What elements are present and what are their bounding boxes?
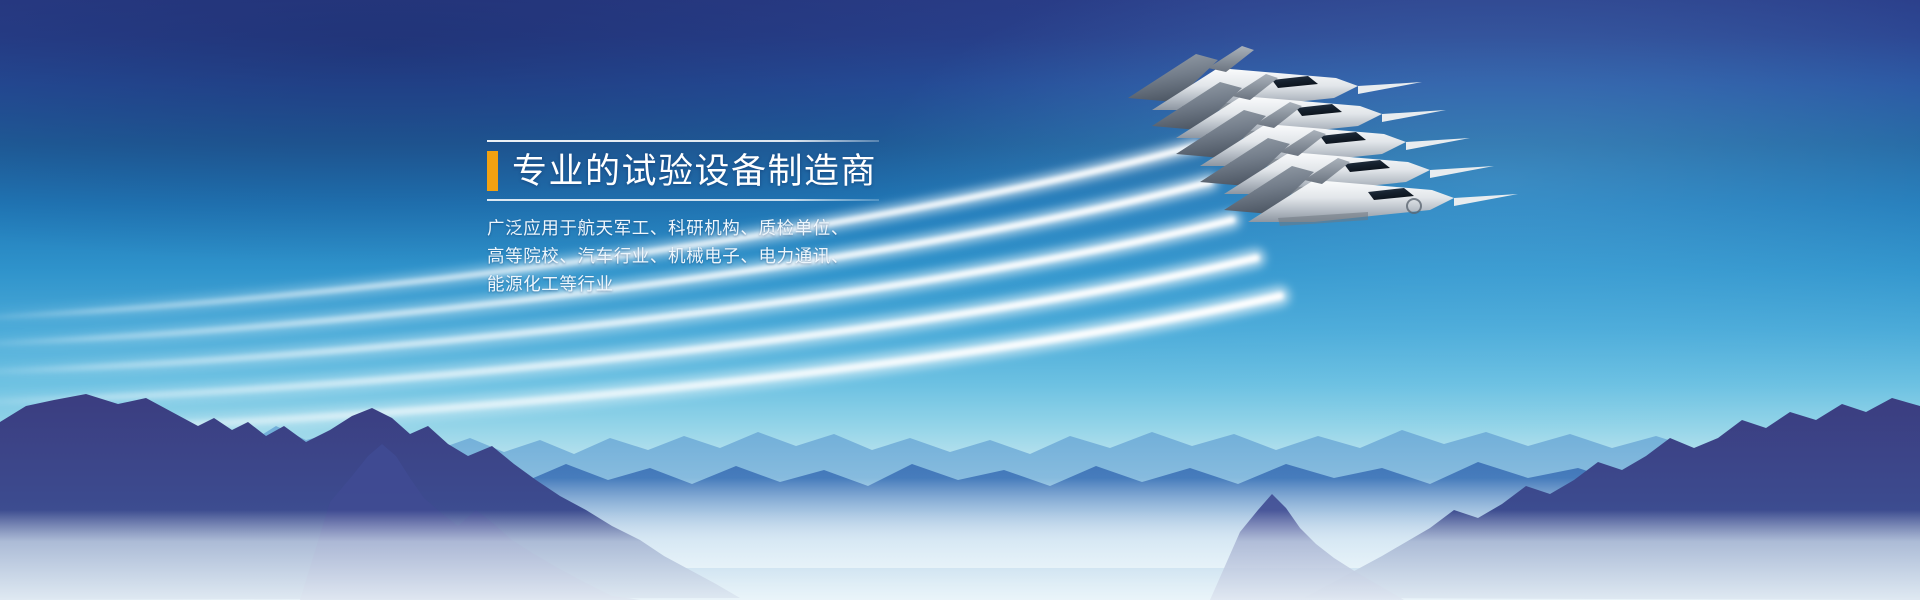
jet-formation [1120,40,1540,300]
jet [1200,130,1494,198]
jet [1152,74,1446,142]
subtitle-line: 高等院校、汽车行业、机械电子、电力通讯、 [487,242,879,270]
headline-row: 专业的试验设备制造商 [487,142,879,199]
jet [1224,158,1518,226]
page-title: 专业的试验设备制造商 [512,154,877,189]
banner-copy: 专业的试验设备制造商 广泛应用于航天军工、科研机构、质检单位、 高等院校、汽车行… [487,140,879,298]
subtitle-line: 广泛应用于航天军工、科研机构、质检单位、 [487,214,879,242]
subtitle-line: 能源化工等行业 [487,270,879,298]
subtitle-block: 广泛应用于航天军工、科研机构、质检单位、 高等院校、汽车行业、机械电子、电力通讯… [487,201,879,298]
accent-bar-icon [487,151,498,191]
jet [1176,102,1470,170]
mountain-range [0,360,1920,600]
valley-fog [0,510,1920,600]
hero-banner: 专业的试验设备制造商 广泛应用于航天军工、科研机构、质检单位、 高等院校、汽车行… [0,0,1920,600]
jet [1128,46,1422,114]
